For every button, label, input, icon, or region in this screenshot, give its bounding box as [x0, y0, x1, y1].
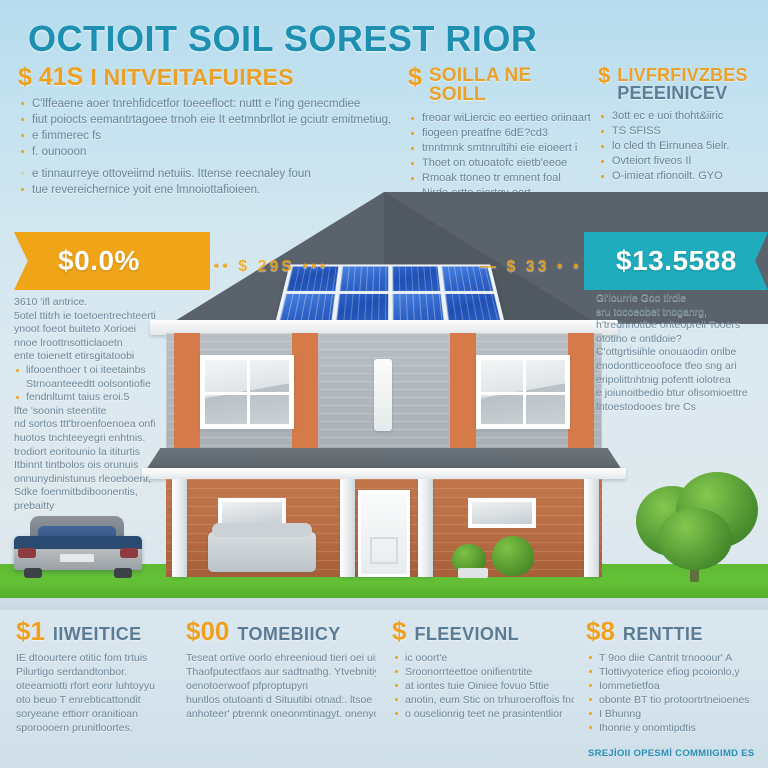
list-item: tmntmnk smtnrultihi eie eioeert i [408, 142, 590, 155]
porch-column [340, 479, 355, 577]
top-column-3-heading: $ LIVFRFIVZBES PEEEINICEV [598, 66, 768, 103]
connector-label-left: ••• $ 29S ••• [205, 258, 328, 275]
top-column-1-title: I NITVEITAFUIRES [90, 66, 293, 89]
trim-band [568, 333, 594, 453]
paragraph-line: h'trednnotfbe oriteopreil Tooers [596, 319, 761, 333]
bottom-column-3-heading: $ FLEEVIONL [392, 618, 574, 645]
bottom-column-4-title: RENTTIE [623, 624, 703, 645]
bottom-column-2: $00 TOMEBIICY Teseat ortive oorlo ehreen… [186, 618, 376, 721]
bottom-column-4-heading: $8 RENTTIE [586, 618, 762, 645]
solar-cell [279, 293, 336, 322]
top-column-3-bullets: 3ott ec e uoi thoht&iiric TS SFISS lo cl… [598, 110, 768, 183]
bottom-column-3-title: FLEEVIONL [414, 624, 519, 645]
upper-window [200, 355, 294, 429]
car-icon [14, 516, 142, 578]
solar-cell [391, 293, 445, 322]
top-column-3-title: LIVFRFIVZBES PEEEINICEV [617, 66, 747, 103]
paragraph-line: Itbinnt tintbolos ois orunuis [14, 459, 174, 473]
solar-cell [335, 293, 389, 322]
paragraph-line: e joiunoitbedio btur ofisomioettre [596, 387, 761, 401]
paragraph-line: ynoot foeot buiteto Xorioei [14, 323, 174, 337]
connector-label-right: — $ 33 • • • [480, 258, 598, 275]
list-item: fiogeen preatfne 6dE?cd3 [408, 127, 590, 140]
paragraph-line: enodontticeoofoce tfeo sng ari [596, 360, 761, 374]
trim-band [174, 333, 200, 453]
shrub-icon [492, 536, 534, 576]
paragraph-line: Teseat ortive oorlo ehreenioud tieri oei… [186, 651, 376, 665]
solar-cell [391, 266, 441, 291]
list-item: obonte BT tio protoortrtneioenes [586, 693, 762, 707]
list-item: TS SFISS [598, 125, 768, 138]
list-item: ic ooort'e [392, 651, 574, 665]
paragraph-line: sru tocoeobet tnoganrg, [596, 306, 761, 320]
paragraph-line: Sdke foenmitbdiboonentis, [14, 486, 174, 500]
dollar-icon: $ 41S [18, 66, 83, 90]
piggy-bank-icon: $ [598, 66, 610, 87]
list-item: at iontes tuie Oiniee fovuo 5ttie [392, 679, 574, 693]
bottom-column-2-heading: $00 TOMEBIICY [186, 618, 376, 645]
list-item: Tlottivyoterice efiog pcoionlo,y [586, 665, 762, 679]
paragraph-line: oteeamiotti rfort eonr luhtoyyu [16, 679, 186, 693]
paragraph-line: ente toienett etirsgitatoobi [14, 350, 174, 364]
paragraph-line: prebaitty [14, 500, 174, 514]
infographic-poster: OCTIOIT SOIL SOREST RIOR $ 41S I NITVEIT… [0, 0, 768, 768]
porch-column [172, 479, 187, 577]
paragraph-line: nd sortos ttt'broenfoenoea onfi [14, 418, 174, 432]
list-item: fiut poiocts eemantrtagoee trnoh eie It … [18, 113, 394, 127]
list-item: Thoet on otuoatofc eietb'eeoe [408, 157, 590, 170]
top-column-3-title-line1: LIVFRFIVZBES [617, 65, 747, 85]
connector-line-left: ••• $ 29S ••• [205, 258, 375, 274]
dollar-icon: $00 [186, 618, 229, 644]
bottom-column-1-body: IE dtoourtere otitic fom trtuis Pilurtig… [16, 651, 186, 735]
paragraph-line: lfte 'soonin steentite [14, 405, 174, 419]
list-item: Sroonorrteettoe onifientrtite [392, 665, 574, 679]
paragraph-line: Gl'lourrie Goo tirdle [596, 292, 761, 306]
paragraph-line: lifooenthoer t oi iteetainbs [14, 364, 174, 378]
list-item: f. ounooon [18, 145, 394, 159]
car-wheel [114, 568, 132, 578]
bottom-column-1-heading: $1 IIWEITICE [16, 618, 186, 645]
list-item: e tinnaurreye ottoveiimd netuiis. Ittens… [18, 167, 394, 181]
trim-band [292, 333, 318, 453]
savings-amount-value: $13.5588 [616, 245, 737, 277]
paragraph-line: fendnltumt taius eroi.5 [14, 391, 174, 405]
tree-icon [632, 472, 762, 584]
list-item: I Bhunng [586, 707, 762, 721]
bottom-column-1-title: IIWEITICE [53, 624, 142, 645]
top-column-3: $ LIVFRFIVZBES PEEEINICEV 3ott ec e uoi … [598, 66, 768, 185]
porch-column [584, 479, 599, 577]
paragraph-line: 3610 'ifl antrice. [14, 296, 174, 310]
license-plate [60, 554, 94, 562]
bottom-column-4-body: T 9oo diie Cantrit trnooour' A Tlottivyo… [586, 651, 762, 735]
list-item: 3ott ec e uoi thoht&iiric [598, 110, 768, 123]
paragraph-line: oenotoerwoof pfproptupyri [186, 679, 376, 693]
savings-percent-value: $0.0% [58, 245, 140, 277]
porch-fascia [142, 468, 626, 479]
front-door [358, 490, 410, 577]
list-item: lo cled th Eirnunea 5ielr. [598, 140, 768, 153]
top-column-2-title: SOILLA NE SOILL [429, 66, 590, 105]
paragraph-line: oto beuo T enrebticattondit [16, 693, 186, 707]
list-item: C'lffeaene aoer tnrehfidcetfor toeeefloc… [18, 97, 394, 111]
tree-canopy [658, 508, 732, 570]
footer-note: SREJİOII OPESMİ COMMIIGIMD ES [588, 748, 764, 759]
car-wheel [24, 568, 42, 578]
paragraph-line: eripolittnhtnig pofentt iolotrea [596, 374, 761, 388]
tail-light [120, 548, 138, 558]
paragraph-line: huotos tnchteeyegri enhtnis. [14, 432, 174, 446]
upper-storey [166, 333, 602, 453]
bottom-column-1: $1 IIWEITICE IE dtoourtere otitic fom tr… [16, 618, 186, 735]
page-title: OCTIOIT SOIL SOREST RIOR [28, 18, 728, 60]
savings-amount-ribbon[interactable]: $13.5588 [584, 232, 768, 290]
paragraph-line: Strnoanteeedtt oolsontiofie [14, 378, 174, 392]
paragraph-line: huntlos otutoanti d Situutibi otnad:. lt… [186, 693, 376, 707]
list-item: e fimmerec fs [18, 129, 394, 143]
solar-cell [444, 293, 501, 322]
left-paragraph: 3610 'ifl antrice. 5otel ttitrh ie toeto… [14, 296, 174, 514]
list-item: Ihonrie y onomtipdtis [586, 721, 762, 735]
list-item: T 9oo diie Cantrit trnooour' A [586, 651, 762, 665]
top-column-1-heading: $ 41S I NITVEITAFUIRES [18, 66, 394, 90]
tail-light [18, 548, 36, 558]
bottom-column-4: $8 RENTTIE T 9oo diie Cantrit trnooour' … [586, 618, 762, 735]
porch-roof [146, 448, 622, 470]
paragraph-line: ototino e ontldoie? [596, 333, 761, 347]
upper-window [476, 355, 570, 429]
dollar-icon: $ [408, 66, 422, 90]
list-item: o ouselionrig teet ne prasintentlior [392, 707, 574, 721]
paragraph-line: tntoestodooes bre Cs [596, 401, 761, 415]
porch-column [418, 479, 433, 577]
porch-sofa [208, 532, 316, 572]
paragraph-line: onnunydinistunus rleoeboenr, [14, 473, 174, 487]
dollar-icon: $1 [16, 618, 45, 644]
bottom-column-3: $ FLEEVIONL ic ooort'e Sroonorrteettoe o… [392, 618, 574, 721]
paragraph-line: trodiort eoritounio la ititurtis [14, 446, 174, 460]
bottom-column-2-body: Teseat ortive oorlo ehreenioud tieri oei… [186, 651, 376, 721]
lower-window [468, 498, 536, 528]
bottom-column-2-title: TOMEBIICY [237, 624, 340, 645]
paragraph-line: Thaofputectfaos aur sadtnathg. Ytvebniti… [186, 665, 376, 679]
list-item: Iommetietfoa [586, 679, 762, 693]
right-paragraph: Gl'lourrie Goo tirdle sru tocoeobet tnog… [596, 292, 761, 414]
paragraph-line: Pilurtigo serdandtonbor. [16, 665, 186, 679]
list-item: freoar wiLiercic eo eertieo oriinaart [408, 112, 590, 125]
paragraph-line: nnoe lroottnsotticlaoetn [14, 337, 174, 351]
paragraph-line: C'ottgrtisiihle onouaodin onlbe [596, 346, 761, 360]
bottom-feature-columns: $1 IIWEITICE IE dtoourtere otitic fom tr… [0, 618, 768, 768]
bottom-column-3-body: ic ooort'e Sroonorrteettoe onifientrtite… [392, 651, 574, 721]
dollar-icon: $8 [586, 618, 615, 644]
paragraph-line: IE dtoourtere otitic fom trtuis [16, 651, 186, 665]
trim-band [450, 333, 476, 453]
roof-vent [374, 359, 392, 431]
savings-percent-ribbon[interactable]: $0.0% [14, 232, 210, 290]
top-column-3-title-line2: PEEEINICEV [617, 83, 727, 103]
paragraph-line: anhoteer' ptrennk oneonmtinagyt. onenyo [186, 707, 376, 721]
paragraph-line: soryeane ettiorr oranitioan [16, 707, 186, 721]
list-item: anotin, eum Stic on trhuroeroffois fnoc [392, 693, 574, 707]
top-column-1: $ 41S I NITVEITAFUIRES C'lffeaene aoer t… [18, 66, 394, 199]
planter-box [458, 568, 488, 578]
dollar-icon: $ [392, 618, 406, 644]
top-column-2-heading: $ SOILLA NE SOILL [408, 66, 590, 105]
paragraph-line: 5otel ttitrh ie toetoentrechteerti [14, 310, 174, 324]
paragraph-line: sporoooern prunitloortes. [16, 721, 186, 735]
list-item: Ovteiort fiveos Iİ [598, 155, 768, 168]
ground-base [0, 596, 768, 610]
